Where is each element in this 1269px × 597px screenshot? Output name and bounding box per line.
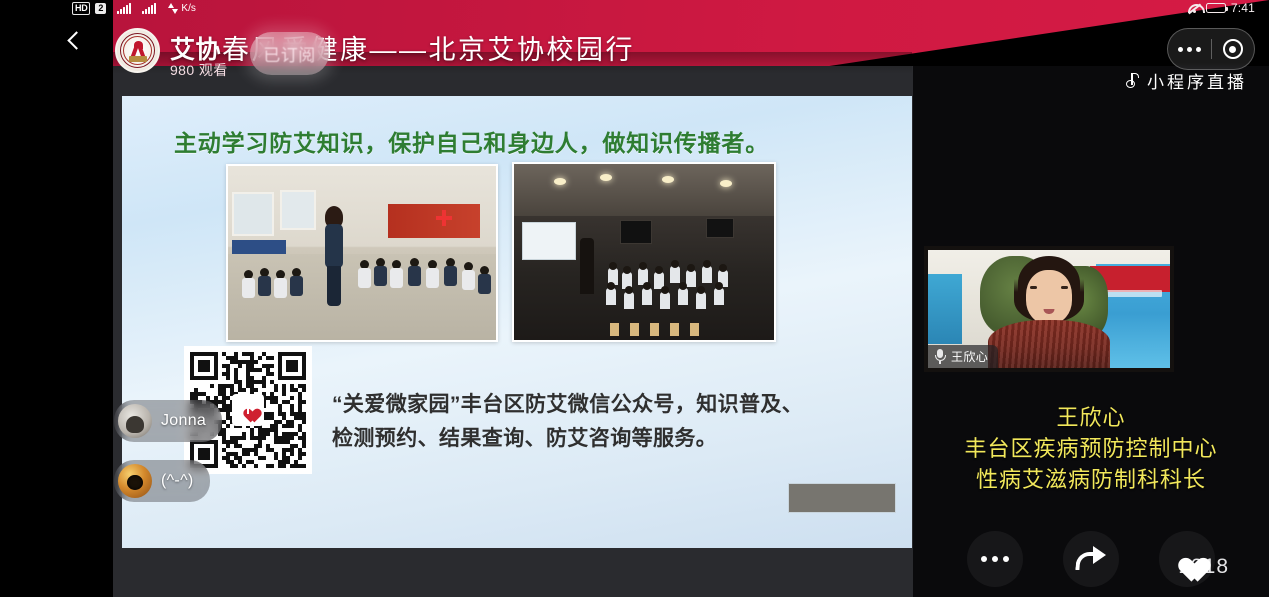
ceiling-light bbox=[554, 178, 566, 185]
avatar bbox=[118, 404, 152, 438]
photo-a-student bbox=[408, 258, 421, 288]
status-bar-left: HD 2 K/s bbox=[72, 2, 196, 15]
presenter-eye-left bbox=[1030, 286, 1037, 289]
photo-a-student bbox=[242, 270, 255, 300]
photo-a-teacher bbox=[320, 208, 348, 312]
auditorium-students-photo bbox=[512, 162, 776, 342]
back-chevron-icon bbox=[67, 31, 85, 49]
network-speed: K/s bbox=[168, 3, 195, 14]
signal-bars-icon bbox=[117, 3, 131, 14]
photo-a-student bbox=[444, 258, 457, 288]
presenter-org: 丰台区疾病预防控制中心 bbox=[913, 433, 1269, 464]
photo-a-student bbox=[462, 262, 475, 292]
chat-user-name: (^-^) bbox=[161, 472, 194, 490]
subscribe-pill-label: 已订阅 bbox=[263, 41, 316, 66]
photo-a-student bbox=[290, 268, 303, 298]
photo-a-window-2 bbox=[280, 190, 316, 230]
photo-b-student bbox=[670, 266, 680, 283]
photo-b-student bbox=[642, 288, 652, 305]
photo-b-stool bbox=[650, 323, 659, 336]
share-button[interactable] bbox=[1063, 531, 1119, 587]
video-backdrop-left bbox=[928, 274, 962, 344]
ceiling-light bbox=[662, 176, 674, 183]
photo-b-stool bbox=[690, 323, 699, 336]
photo-a-student bbox=[478, 266, 491, 296]
slide-body-line-2: 检测预约、结果查询、防艾咨询等服务。 bbox=[332, 422, 877, 456]
system-status-bar: HD 2 K/s 7:41 bbox=[0, 0, 1269, 20]
photo-a-student bbox=[426, 260, 439, 290]
subscribe-pill[interactable]: 已订阅 bbox=[250, 32, 329, 75]
presenter-video-card[interactable]: 王欣心 bbox=[924, 246, 1174, 372]
like-button[interactable] bbox=[1159, 531, 1215, 587]
chat-overlay: Jonna (^-^) bbox=[114, 400, 334, 520]
wifi-off-icon bbox=[1188, 3, 1201, 13]
photo-a-window bbox=[232, 192, 274, 236]
photo-a-red-banner bbox=[388, 204, 480, 238]
presenter-eye-right bbox=[1061, 286, 1068, 289]
clock-time: 7:41 bbox=[1231, 1, 1255, 15]
status-bar-right: 7:41 bbox=[1188, 1, 1255, 15]
teacher-legs bbox=[327, 266, 341, 306]
network-speed-unit: K/s bbox=[181, 3, 195, 14]
ceiling-light bbox=[600, 174, 612, 181]
photo-a-student bbox=[390, 260, 403, 290]
back-button[interactable] bbox=[60, 24, 88, 56]
viewer-count: 980 观看 bbox=[170, 60, 228, 80]
photo-b-student bbox=[660, 292, 670, 309]
slide-body-line-1: “关爱微家园”丰台区防艾微信公众号，知识普及、 bbox=[332, 388, 877, 422]
avatar bbox=[118, 464, 152, 498]
presenter-panel: 王欣心 王欣心 丰台区疾病预防控制中心 性病艾滋病防制科科长 1318 bbox=[913, 66, 1269, 597]
target-circle-icon bbox=[1223, 39, 1243, 59]
photo-a-student bbox=[374, 258, 387, 288]
wall-monitor bbox=[620, 220, 652, 244]
slide-placeholder-box bbox=[788, 483, 896, 513]
music-note-icon bbox=[1126, 73, 1139, 88]
photo-a-student bbox=[274, 270, 287, 300]
share-arrow-icon bbox=[1076, 546, 1106, 572]
capsule-close-button[interactable] bbox=[1212, 39, 1255, 59]
chat-bubble[interactable]: (^-^) bbox=[114, 460, 210, 502]
presenter-face bbox=[1026, 270, 1072, 324]
presenter-name: 王欣心 bbox=[913, 402, 1269, 433]
photo-b-student bbox=[624, 292, 634, 309]
presenter-info: 王欣心 丰台区疾病预防控制中心 性病艾滋病防制科科长 bbox=[913, 402, 1269, 495]
mini-program-live-label: 小程序直播 bbox=[1126, 68, 1247, 93]
more-dots-icon bbox=[981, 556, 1009, 562]
microphone-icon bbox=[934, 349, 946, 364]
photo-b-presenter bbox=[580, 238, 594, 294]
photo-b-student bbox=[686, 270, 696, 287]
photo-b-student bbox=[606, 288, 616, 305]
list-item[interactable]: (^-^) bbox=[114, 460, 334, 502]
presenter-sweater bbox=[988, 320, 1110, 368]
mini-program-capsule[interactable] bbox=[1167, 28, 1255, 70]
photo-b-stool bbox=[610, 323, 619, 336]
capsule-more-button[interactable] bbox=[1168, 47, 1211, 52]
live-stream-screen: 主动学习防艾知识，保护自己和身边人，做知识传播者。 bbox=[0, 0, 1269, 597]
video-label-name: 王欣心 bbox=[951, 348, 988, 365]
photo-b-stool bbox=[670, 323, 679, 336]
teacher-body bbox=[325, 224, 343, 268]
projection-screen bbox=[522, 222, 576, 260]
hd-badge: HD bbox=[72, 2, 90, 15]
classroom-lecture-photo bbox=[226, 164, 498, 342]
photo-b-student bbox=[702, 266, 712, 283]
photo-b-student bbox=[696, 292, 706, 309]
chat-bubble[interactable]: Jonna bbox=[114, 400, 222, 442]
photo-b-student bbox=[678, 288, 688, 305]
presenter-name-badge: 王欣心 bbox=[928, 345, 998, 368]
aids-ribbon-logo[interactable] bbox=[115, 28, 160, 73]
photo-b-stool bbox=[630, 323, 639, 336]
photo-b-student bbox=[714, 288, 724, 305]
wall-monitor-2 bbox=[706, 218, 734, 238]
photo-a-student bbox=[358, 260, 371, 290]
heart-icon bbox=[1172, 546, 1202, 573]
action-bar bbox=[913, 531, 1269, 587]
list-item[interactable]: Jonna bbox=[114, 400, 334, 442]
photo-a-student bbox=[258, 268, 271, 298]
video-backdrop-text bbox=[1102, 290, 1162, 297]
sim-badge: 2 bbox=[95, 3, 106, 14]
data-transfer-icon bbox=[168, 3, 178, 14]
signal-bars-icon-2 bbox=[142, 3, 156, 14]
slide-body-text: “关爱微家园”丰台区防艾微信公众号，知识普及、 检测预约、结果查询、防艾咨询等服… bbox=[332, 388, 877, 456]
battery-icon bbox=[1206, 3, 1226, 13]
left-black-bar bbox=[0, 66, 113, 597]
slide-heading: 主动学习防艾知识，保护自己和身边人，做知识传播者。 bbox=[174, 124, 769, 158]
presenter-video-feed: 王欣心 bbox=[928, 250, 1170, 368]
mini-program-live-text: 小程序直播 bbox=[1147, 68, 1247, 93]
red-cross-icon bbox=[436, 210, 452, 226]
photo-b-ceiling bbox=[514, 164, 774, 216]
more-button[interactable] bbox=[967, 531, 1023, 587]
ceiling-light bbox=[720, 180, 732, 187]
presenter-title: 性病艾滋病防制科科长 bbox=[913, 464, 1269, 495]
top-nav-bar: 艾协 980 观看 春风爱健康——北京艾协校园行 已订阅 bbox=[0, 14, 1269, 66]
chat-user-name: Jonna bbox=[161, 412, 206, 430]
